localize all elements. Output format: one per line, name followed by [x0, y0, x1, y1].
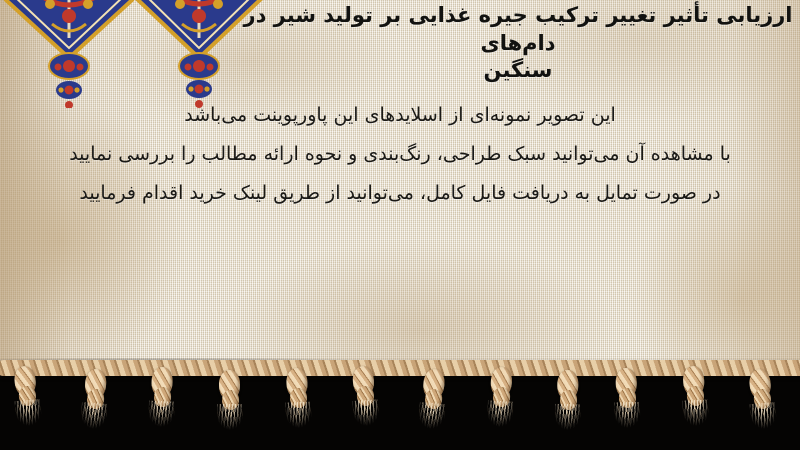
fringe-tassel	[551, 370, 586, 433]
fringe-frayed-ends	[555, 404, 581, 432]
fringe-frayed-ends	[750, 402, 778, 432]
fringe-frayed-ends	[417, 402, 445, 432]
body-line-1: این تصویر نمونه‌ای از اسلایدهای این پاور…	[10, 104, 790, 126]
slide-title-line-2: سنگین	[240, 57, 796, 85]
slide-title-line-1: ارزیابی تأثیر تغییر ترکیب جیره غذایی بر …	[240, 2, 796, 57]
slide-canvas: ارزیابی تأثیر تغییر ترکیب جیره غذایی بر …	[0, 0, 800, 450]
fringe-frayed-ends	[148, 401, 175, 430]
fringe-tassel	[743, 368, 782, 433]
fringe-tassel	[482, 366, 519, 430]
fringe-tassel	[413, 368, 452, 433]
fringe-frayed-ends	[80, 402, 108, 432]
fringe-tassel	[7, 365, 46, 430]
body-line-3: در صورت تمایل به دریافت فایل کامل، می‌تو…	[10, 182, 790, 204]
fringe-tassel	[346, 365, 384, 429]
fringe-tassel	[76, 368, 114, 432]
fringe-frayed-ends	[614, 402, 640, 430]
fringe-tassel	[144, 366, 180, 429]
fringe-frayed-ends	[14, 399, 42, 429]
body-line-2: با مشاهده آن می‌توانید سبک طراحی، رنگ‌بن…	[10, 143, 790, 165]
fringe-frayed-ends	[486, 400, 513, 429]
fringe-tassel	[280, 367, 316, 430]
persian-carpet-medallion-left-icon	[0, 0, 144, 112]
fringe-tassel	[676, 365, 713, 429]
slide-title: ارزیابی تأثیر تغییر ترکیب جیره غذایی بر …	[240, 2, 796, 85]
fringe-frayed-ends	[217, 404, 243, 432]
fringe-frayed-ends	[353, 399, 381, 429]
fringe-tassel	[213, 370, 247, 432]
fringe-tassel	[609, 368, 644, 431]
fringe-frayed-ends	[285, 402, 312, 431]
fringe-frayed-ends	[682, 399, 709, 428]
slide-body-text: این تصویر نمونه‌ای از اسلایدهای این پاور…	[10, 104, 790, 204]
